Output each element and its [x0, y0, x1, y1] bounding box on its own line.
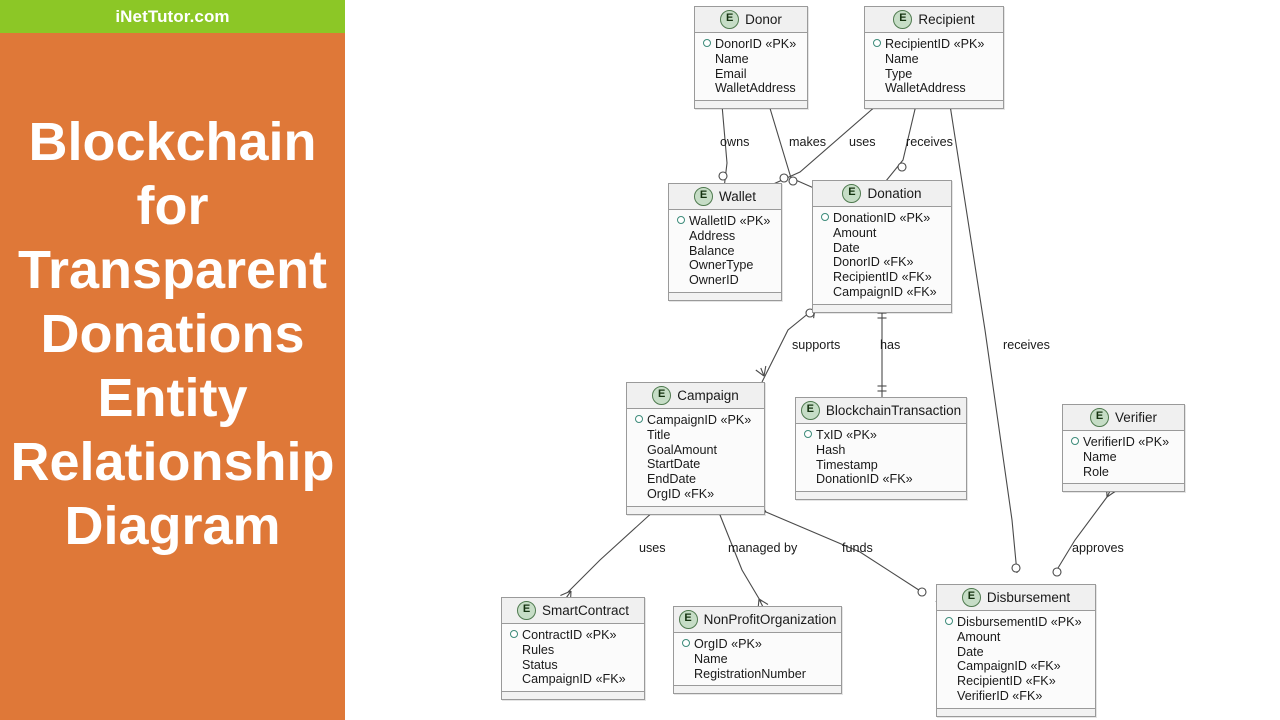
primary-key-icon: [873, 39, 881, 47]
entity-header: EDisbursement: [937, 585, 1095, 611]
entity-footer: [695, 100, 807, 108]
attribute-row: OrgID «FK»: [635, 487, 758, 502]
attribute-row: EndDate: [635, 472, 758, 487]
entity-name: Disbursement: [987, 590, 1070, 605]
attribute-bullet-icon: [945, 661, 953, 669]
entity-header: EWallet: [669, 184, 781, 210]
entity-header: EVerifier: [1063, 405, 1184, 431]
connector-managed-by: [718, 510, 761, 602]
entity-icon: E: [652, 386, 671, 405]
attribute-name: DonorID «PK»: [715, 37, 796, 52]
attribute-row: CampaignID «FK»: [510, 672, 638, 687]
attribute-row: CampaignID «PK»: [635, 413, 758, 428]
attribute-row: Rules: [510, 643, 638, 658]
entity-wallet[interactable]: EWalletWalletID «PK»AddressBalanceOwnerT…: [668, 183, 782, 301]
attribute-name: DonationID «FK»: [816, 472, 913, 487]
attribute-name: Hash: [816, 443, 845, 458]
zero-marker: [918, 588, 926, 596]
primary-key-icon: [677, 216, 685, 224]
zero-marker: [1053, 568, 1061, 576]
attribute-name: Balance: [689, 244, 735, 259]
entity-attributes: WalletID «PK»AddressBalanceOwnerTypeOwne…: [669, 210, 781, 292]
title-banner: iNetTutor.com Blockchain for Transparent…: [0, 0, 345, 720]
primary-key-icon: [682, 639, 690, 647]
zero-marker: [780, 174, 788, 182]
entity-blockchaintransaction[interactable]: EBlockchainTransactionTxID «PK»HashTimes…: [795, 397, 967, 500]
attribute-row: Name: [682, 652, 835, 667]
attribute-name: OrgID «PK»: [694, 637, 762, 652]
attribute-row: Date: [821, 241, 945, 256]
relationship-label-managed-by: managed by: [728, 541, 797, 555]
entity-footer: [669, 292, 781, 300]
attribute-name: CampaignID «PK»: [647, 413, 751, 428]
entity-name: NonProfitOrganization: [704, 612, 837, 627]
attribute-name: StartDate: [647, 457, 700, 472]
entity-footer: [796, 491, 966, 499]
attribute-name: OrgID «FK»: [647, 487, 714, 502]
attribute-row: WalletID «PK»: [677, 214, 775, 229]
entity-header: EBlockchainTransaction: [796, 398, 966, 424]
entity-header: EDonation: [813, 181, 951, 207]
attribute-row: RecipientID «PK»: [873, 37, 997, 52]
entity-footer: [813, 304, 951, 312]
entity-footer: [627, 506, 764, 514]
attribute-row: DonationID «FK»: [804, 472, 960, 487]
entity-name: Campaign: [677, 388, 739, 403]
attribute-name: Date: [833, 241, 860, 256]
attribute-bullet-icon: [945, 691, 953, 699]
attribute-bullet-icon: [677, 275, 685, 283]
attribute-bullet-icon: [677, 260, 685, 268]
entity-icon: E: [517, 601, 536, 620]
attribute-name: DonorID «FK»: [833, 255, 914, 270]
attribute-name: DonationID «PK»: [833, 211, 930, 226]
entity-header: ESmartContract: [502, 598, 644, 624]
entity-name: Recipient: [918, 12, 974, 27]
entity-header: EDonor: [695, 7, 807, 33]
attribute-bullet-icon: [510, 660, 518, 668]
attribute-row: DisbursementID «PK»: [945, 615, 1089, 630]
attribute-row: ContractID «PK»: [510, 628, 638, 643]
attribute-row: DonorID «PK»: [703, 37, 801, 52]
attribute-row: Address: [677, 229, 775, 244]
attribute-name: Role: [1083, 465, 1109, 480]
attribute-name: ContractID «PK»: [522, 628, 617, 643]
entity-name: Wallet: [719, 189, 756, 204]
attribute-row: Date: [945, 645, 1089, 660]
attribute-row: Name: [1071, 450, 1178, 465]
attribute-name: OwnerID: [689, 273, 739, 288]
attribute-row: Name: [703, 52, 801, 67]
attribute-name: VerifierID «PK»: [1083, 435, 1169, 450]
entity-footer: [865, 100, 1003, 108]
attribute-row: VerifierID «PK»: [1071, 435, 1178, 450]
attribute-name: WalletID «PK»: [689, 214, 770, 229]
entity-footer: [674, 685, 841, 693]
attribute-name: Name: [885, 52, 919, 67]
attribute-bullet-icon: [510, 645, 518, 653]
attribute-name: OwnerType: [689, 258, 753, 273]
attribute-name: TxID «PK»: [816, 428, 877, 443]
primary-key-icon: [804, 430, 812, 438]
entity-icon: E: [1090, 408, 1109, 427]
attribute-row: Status: [510, 658, 638, 673]
connector-approves: [1058, 497, 1107, 568]
brand-bar: iNetTutor.com: [0, 0, 345, 33]
attribute-bullet-icon: [945, 647, 953, 655]
entity-name: Verifier: [1115, 410, 1157, 425]
attribute-bullet-icon: [1071, 452, 1079, 460]
entity-attributes: ContractID «PK»RulesStatusCampaignID «FK…: [502, 624, 644, 691]
entity-name: SmartContract: [542, 603, 629, 618]
attribute-name: RegistrationNumber: [694, 667, 806, 682]
entity-verifier[interactable]: EVerifierVerifierID «PK»NameRole: [1062, 404, 1185, 492]
entity-donation[interactable]: EDonationDonationID «PK»AmountDateDonorI…: [812, 180, 952, 313]
attribute-name: Amount: [833, 226, 876, 241]
attribute-bullet-icon: [677, 231, 685, 239]
relationship-label-receives-donation: receives: [906, 135, 953, 149]
relationship-label-campaign-uses: uses: [639, 541, 666, 555]
primary-key-icon: [510, 630, 518, 638]
attribute-bullet-icon: [635, 489, 643, 497]
entity-name: Donation: [867, 186, 921, 201]
attribute-bullet-icon: [703, 54, 711, 62]
attribute-bullet-icon: [682, 669, 690, 677]
attribute-row: Hash: [804, 443, 960, 458]
attribute-name: RecipientID «FK»: [833, 270, 932, 285]
attribute-row: TxID «PK»: [804, 428, 960, 443]
attribute-row: Amount: [945, 630, 1089, 645]
attribute-bullet-icon: [804, 474, 812, 482]
entity-icon: E: [801, 401, 820, 420]
entity-attributes: RecipientID «PK»NameTypeWalletAddress: [865, 33, 1003, 100]
page-title: Blockchain for Transparent Donations Ent…: [0, 110, 345, 558]
zero-marker: [898, 163, 906, 171]
attribute-row: WalletAddress: [703, 81, 801, 96]
attribute-bullet-icon: [945, 676, 953, 684]
attribute-bullet-icon: [635, 430, 643, 438]
attribute-row: CampaignID «FK»: [821, 285, 945, 300]
attribute-name: Type: [885, 67, 912, 82]
primary-key-icon: [1071, 437, 1079, 445]
attribute-bullet-icon: [945, 632, 953, 640]
attribute-name: Address: [689, 229, 735, 244]
relationship-label-receives-disbursement: receives: [1003, 338, 1050, 352]
attribute-row: Type: [873, 67, 997, 82]
zero-marker: [789, 177, 797, 185]
attribute-bullet-icon: [873, 54, 881, 62]
relationship-label-has: has: [880, 338, 900, 352]
attribute-row: DonorID «FK»: [821, 255, 945, 270]
attribute-bullet-icon: [821, 272, 829, 280]
entity-nonprofitorganization[interactable]: ENonProfitOrganizationOrgID «PK»NameRegi…: [673, 606, 842, 694]
entity-header: ECampaign: [627, 383, 764, 409]
attribute-row: OwnerID: [677, 273, 775, 288]
attribute-name: WalletAddress: [715, 81, 796, 96]
attribute-bullet-icon: [804, 445, 812, 453]
primary-key-icon: [635, 415, 643, 423]
attribute-bullet-icon: [635, 445, 643, 453]
attribute-name: Date: [957, 645, 984, 660]
attribute-name: Name: [1083, 450, 1117, 465]
attribute-bullet-icon: [821, 228, 829, 236]
attribute-row: VerifierID «FK»: [945, 689, 1089, 704]
primary-key-icon: [821, 213, 829, 221]
entity-name: Donor: [745, 12, 782, 27]
attribute-row: RegistrationNumber: [682, 667, 835, 682]
entity-attributes: VerifierID «PK»NameRole: [1063, 431, 1184, 483]
attribute-row: Amount: [821, 226, 945, 241]
attribute-name: Title: [647, 428, 670, 443]
attribute-row: OwnerType: [677, 258, 775, 273]
attribute-name: DisbursementID «PK»: [957, 615, 1082, 630]
entity-icon: E: [893, 10, 912, 29]
brand-name: iNetTutor.com: [115, 7, 229, 27]
entity-donor[interactable]: EDonorDonorID «PK»NameEmailWalletAddress: [694, 6, 808, 109]
attribute-row: Role: [1071, 465, 1178, 480]
er-diagram-page: iNetTutor.com Blockchain for Transparent…: [0, 0, 1280, 720]
attribute-bullet-icon: [703, 83, 711, 91]
attribute-name: VerifierID «FK»: [957, 689, 1042, 704]
attribute-bullet-icon: [677, 246, 685, 254]
attribute-bullet-icon: [510, 674, 518, 682]
attribute-bullet-icon: [821, 257, 829, 265]
attribute-name: EndDate: [647, 472, 696, 487]
entity-header: ERecipient: [865, 7, 1003, 33]
entity-icon: E: [962, 588, 981, 607]
attribute-row: Timestamp: [804, 458, 960, 473]
attribute-bullet-icon: [821, 243, 829, 251]
zero-marker: [719, 172, 727, 180]
entity-smartcontract[interactable]: ESmartContractContractID «PK»RulesStatus…: [501, 597, 645, 700]
attribute-row: StartDate: [635, 457, 758, 472]
attribute-name: Name: [715, 52, 749, 67]
attribute-row: RecipientID «FK»: [945, 674, 1089, 689]
attribute-row: Name: [873, 52, 997, 67]
attribute-name: Rules: [522, 643, 554, 658]
relationship-label-makes: makes: [789, 135, 826, 149]
entity-icon: E: [694, 187, 713, 206]
primary-key-icon: [703, 39, 711, 47]
attribute-bullet-icon: [821, 287, 829, 295]
attribute-row: Email: [703, 67, 801, 82]
entity-attributes: TxID «PK»HashTimestampDonationID «FK»: [796, 424, 966, 491]
attribute-bullet-icon: [635, 474, 643, 482]
attribute-row: Title: [635, 428, 758, 443]
entity-footer: [1063, 483, 1184, 491]
attribute-bullet-icon: [1071, 467, 1079, 475]
attribute-row: Balance: [677, 244, 775, 259]
entity-attributes: DisbursementID «PK»AmountDateCampaignID …: [937, 611, 1095, 708]
attribute-name: WalletAddress: [885, 81, 966, 96]
attribute-bullet-icon: [703, 69, 711, 77]
entity-footer: [502, 691, 644, 699]
entity-disbursement[interactable]: EDisbursementDisbursementID «PK»AmountDa…: [936, 584, 1096, 717]
attribute-bullet-icon: [873, 69, 881, 77]
attribute-row: WalletAddress: [873, 81, 997, 96]
attribute-row: OrgID «PK»: [682, 637, 835, 652]
attribute-row: GoalAmount: [635, 443, 758, 458]
diagram-canvas: EDonorDonorID «PK»NameEmailWalletAddress…: [345, 0, 1280, 720]
attribute-bullet-icon: [804, 460, 812, 468]
attribute-name: GoalAmount: [647, 443, 717, 458]
attribute-name: Timestamp: [816, 458, 878, 473]
attribute-name: CampaignID «FK»: [522, 672, 626, 687]
attribute-row: DonationID «PK»: [821, 211, 945, 226]
attribute-name: CampaignID «FK»: [957, 659, 1061, 674]
attribute-bullet-icon: [682, 654, 690, 662]
relationship-label-approves: approves: [1072, 541, 1124, 555]
zero-marker: [1012, 564, 1020, 572]
entity-icon: E: [679, 610, 698, 629]
attribute-row: CampaignID «FK»: [945, 659, 1089, 674]
attribute-bullet-icon: [873, 83, 881, 91]
attribute-row: RecipientID «FK»: [821, 270, 945, 285]
entity-header: ENonProfitOrganization: [674, 607, 841, 633]
entity-icon: E: [720, 10, 739, 29]
entity-attributes: OrgID «PK»NameRegistrationNumber: [674, 633, 841, 685]
entity-attributes: DonationID «PK»AmountDateDonorID «FK»Rec…: [813, 207, 951, 304]
attribute-name: Status: [522, 658, 558, 673]
entity-campaign[interactable]: ECampaignCampaignID «PK»TitleGoalAmountS…: [626, 382, 765, 515]
attribute-name: RecipientID «FK»: [957, 674, 1056, 689]
attribute-name: CampaignID «FK»: [833, 285, 937, 300]
entity-attributes: CampaignID «PK»TitleGoalAmountStartDateE…: [627, 409, 764, 506]
attribute-name: Name: [694, 652, 728, 667]
primary-key-icon: [945, 617, 953, 625]
attribute-bullet-icon: [635, 459, 643, 467]
attribute-name: RecipientID «PK»: [885, 37, 984, 52]
relationship-label-funds: funds: [842, 541, 873, 555]
entity-footer: [937, 708, 1095, 716]
relationship-label-supports: supports: [792, 338, 840, 352]
entity-recipient[interactable]: ERecipientRecipientID «PK»NameTypeWallet…: [864, 6, 1004, 109]
entity-icon: E: [842, 184, 861, 203]
attribute-name: Email: [715, 67, 747, 82]
entity-attributes: DonorID «PK»NameEmailWalletAddress: [695, 33, 807, 100]
relationship-label-uses: uses: [849, 135, 876, 149]
entity-name: BlockchainTransaction: [826, 403, 961, 418]
relationship-label-owns: owns: [720, 135, 749, 149]
attribute-name: Amount: [957, 630, 1000, 645]
